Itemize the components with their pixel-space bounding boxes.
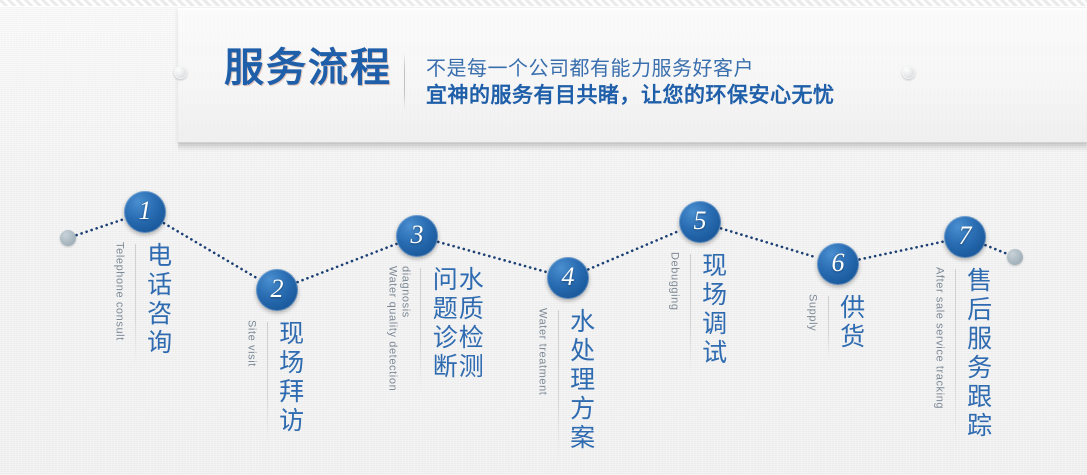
step-number-badge-6[interactable]: 6 xyxy=(817,243,859,285)
step-number-label: 3 xyxy=(411,222,424,248)
service-process-page: 服务流程 不是每一个公司都有能力服务好客户 宜神的服务有目共睹，让您的环保安心无… xyxy=(0,0,1087,475)
step-label-en-line: Telephone consult xyxy=(113,242,126,341)
step-label-en-line: Site visit xyxy=(245,320,258,367)
connector-segment xyxy=(860,242,944,260)
connector-segment xyxy=(164,223,258,279)
step-label-group-2: Site visit现场拜访 xyxy=(245,320,303,444)
step-label-en-3: Water quality detectiondiagnosis xyxy=(386,266,411,391)
connector-segment xyxy=(985,245,1006,253)
connector-segment xyxy=(298,244,397,282)
step-label-en-line: diagnosis xyxy=(399,266,412,391)
step-number-label: 4 xyxy=(562,264,575,290)
top-stripe-divider xyxy=(0,6,1087,7)
subtitle-line-2: 宜神的服务有目共睹，让您的环保安心无忧 xyxy=(426,82,966,110)
step-label-cn-line: 供货 xyxy=(838,294,864,352)
connector-segment xyxy=(77,219,125,235)
step-label-cn-line: 现场调试 xyxy=(700,252,726,368)
flow-end-endpoint-icon xyxy=(1007,249,1023,265)
step-label-divider xyxy=(267,322,268,444)
step-number-badge-7[interactable]: 7 xyxy=(944,216,986,258)
step-label-divider xyxy=(955,269,956,449)
step-label-cn-6: 供货 xyxy=(838,294,864,352)
step-number-label: 7 xyxy=(959,223,972,249)
step-label-divider xyxy=(828,296,829,360)
header-subtitle: 不是每一个公司都有能力服务好客户 宜神的服务有目共睹，让您的环保安心无忧 xyxy=(426,56,966,110)
step-label-en-2: Site visit xyxy=(245,320,258,367)
subtitle-line-1: 不是每一个公司都有能力服务好客户 xyxy=(426,56,966,82)
step-number-label: 6 xyxy=(832,250,845,276)
step-label-en-line: Water treatment xyxy=(536,308,549,395)
step-label-cn-2: 现场拜访 xyxy=(277,320,303,436)
step-label-en-5: Debugging xyxy=(668,252,681,311)
step-label-cn-5: 现场调试 xyxy=(700,252,726,368)
step-number-badge-5[interactable]: 5 xyxy=(679,201,721,243)
connector-segment xyxy=(721,228,817,257)
step-label-cn-line: 水质检测 xyxy=(456,266,482,382)
step-number-label: 2 xyxy=(271,276,284,302)
step-number-label: 1 xyxy=(139,198,152,224)
step-label-cn-3: 问题诊断水质检测 xyxy=(430,266,482,382)
step-label-cn-4: 水处理方案 xyxy=(568,308,594,453)
step-number-label: 5 xyxy=(694,208,707,234)
step-label-divider xyxy=(135,244,136,366)
step-label-en-1: Telephone consult xyxy=(113,242,126,341)
step-label-en-line: Supply xyxy=(806,294,819,331)
step-label-en-7: After sale service tracking xyxy=(933,267,946,409)
header-divider xyxy=(404,52,405,110)
step-label-cn-line: 问题诊断 xyxy=(430,266,456,382)
step-label-divider xyxy=(420,268,421,390)
step-label-en-6: Supply xyxy=(806,294,819,331)
step-label-group-3: Water quality detectiondiagnosis问题诊断水质检测 xyxy=(386,266,482,391)
step-label-group-5: Debugging现场调试 xyxy=(668,252,726,376)
step-label-group-4: Water treatment水处理方案 xyxy=(536,308,594,461)
step-label-divider xyxy=(690,254,691,376)
step-label-en-line: After sale service tracking xyxy=(933,267,946,409)
step-number-badge-4[interactable]: 4 xyxy=(547,257,589,299)
page-title: 服务流程 xyxy=(224,48,392,88)
step-label-group-6: Supply供货 xyxy=(806,294,864,360)
connector-segment xyxy=(588,231,679,270)
screw-dot-left-icon xyxy=(174,66,187,79)
flow-diagram: 1Telephone consult电话咨询2Site visit现场拜访3Wa… xyxy=(0,150,1087,475)
step-label-cn-line: 电话咨询 xyxy=(145,242,171,358)
step-label-cn-line: 现场拜访 xyxy=(277,320,303,436)
step-label-cn-1: 电话咨询 xyxy=(145,242,171,358)
flow-start-endpoint-icon xyxy=(60,230,76,246)
step-label-cn-line: 售后服务跟踪 xyxy=(965,267,991,441)
step-label-cn-line: 水处理方案 xyxy=(568,308,594,453)
step-number-badge-1[interactable]: 1 xyxy=(124,191,166,233)
step-label-en-line: Debugging xyxy=(668,252,681,311)
step-label-en-line: Water quality detection xyxy=(386,266,399,391)
step-label-group-7: After sale service tracking售后服务跟踪 xyxy=(933,267,991,449)
step-label-group-1: Telephone consult电话咨询 xyxy=(113,242,171,366)
step-label-cn-7: 售后服务跟踪 xyxy=(965,267,991,441)
step-label-divider xyxy=(558,310,559,461)
step-label-en-4: Water treatment xyxy=(536,308,549,395)
step-number-badge-3[interactable]: 3 xyxy=(396,215,438,257)
step-number-badge-2[interactable]: 2 xyxy=(256,269,298,311)
